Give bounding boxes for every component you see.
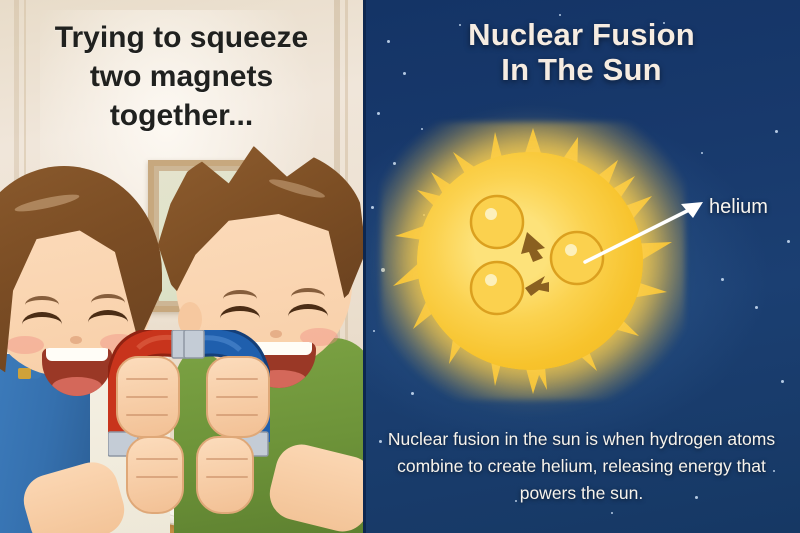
hydrogen-atom-upper xyxy=(471,196,523,248)
star xyxy=(701,152,703,154)
panel-divider xyxy=(363,0,366,533)
boy-hand-upper xyxy=(206,356,270,438)
star xyxy=(559,14,561,16)
boy-hand-lower xyxy=(196,436,254,514)
star xyxy=(611,512,613,514)
knuckle-line xyxy=(126,414,168,416)
star xyxy=(787,240,790,243)
star xyxy=(373,330,375,332)
left-panel-magnet-analogy: Trying to squeeze two magnets together..… xyxy=(0,0,363,533)
boy-closed-eye xyxy=(288,304,328,329)
right-panel-caption: Nuclear fusion in the sun is when hydrog… xyxy=(375,426,788,507)
girl-nose xyxy=(70,336,82,344)
knuckle-line xyxy=(126,396,168,398)
illustration-canvas: Trying to squeeze two magnets together..… xyxy=(0,0,800,533)
boy-closed-eye xyxy=(220,306,260,331)
knuckle-line xyxy=(126,378,168,380)
girl-blush xyxy=(6,336,44,354)
star xyxy=(781,380,784,383)
hydrogen-atom-lower xyxy=(471,262,523,314)
knuckle-line xyxy=(206,458,248,460)
left-panel-caption: Trying to squeeze two magnets together..… xyxy=(0,18,363,135)
knuckle-line xyxy=(216,414,258,416)
star xyxy=(371,206,374,209)
knuckle-line xyxy=(216,396,258,398)
title-line-1: Nuclear Fusion xyxy=(363,18,800,53)
star xyxy=(721,278,724,281)
knuckle-line xyxy=(206,476,248,478)
girl-hand-lower xyxy=(126,436,184,514)
left-caption-line-3: together... xyxy=(14,96,349,135)
girl-laughing-mouth xyxy=(42,348,112,396)
reaction-arrow-lower xyxy=(525,276,549,296)
star xyxy=(377,112,380,115)
girl-hand-upper xyxy=(116,356,180,438)
girl-tongue xyxy=(52,377,102,396)
boy-nose xyxy=(270,330,282,338)
helium-annotation-arrow-icon xyxy=(581,196,713,268)
reaction-arrow-upper xyxy=(521,232,545,262)
girl-teeth xyxy=(46,348,108,361)
right-panel-title: Nuclear Fusion In The Sun xyxy=(363,18,800,87)
title-line-2: In The Sun xyxy=(363,53,800,88)
knuckle-line xyxy=(216,378,258,380)
girl-overall-buckle xyxy=(18,368,31,379)
knuckle-line xyxy=(136,476,178,478)
right-panel-fusion-diagram: helium Nuclear Fusion In The Sun Nuclear… xyxy=(363,0,800,533)
girl-closed-eye xyxy=(22,312,62,337)
star xyxy=(775,130,778,133)
left-caption-line-2: two magnets xyxy=(14,57,349,96)
helium-label: helium xyxy=(709,196,768,219)
left-caption-line-1: Trying to squeeze xyxy=(14,18,349,57)
star xyxy=(755,306,758,309)
knuckle-line xyxy=(136,458,178,460)
